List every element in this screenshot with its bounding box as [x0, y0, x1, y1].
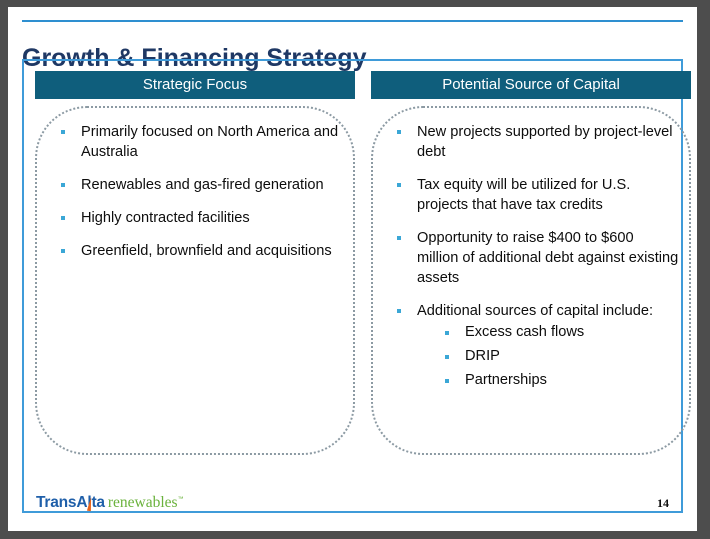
- brand-logo: TransAltarenewables™: [36, 494, 184, 512]
- column-body-potential-source-of-capital: New projects supported by project-level …: [371, 106, 691, 455]
- page-number: 14: [657, 496, 669, 511]
- sub-list-item: Excess cash flows: [417, 322, 679, 343]
- bullet-text: Primarily focused on North America and A…: [81, 124, 338, 160]
- column-strategic-focus: Strategic Focus Primarily focused on Nor…: [35, 71, 355, 455]
- sub-bullet-list: Excess cash flows DRIP Partnerships: [417, 322, 679, 391]
- column-potential-source-of-capital: Potential Source of Capital New projects…: [371, 71, 691, 455]
- sub-bullet-text: Partnerships: [465, 372, 547, 388]
- list-item: Highly contracted facilities: [47, 208, 343, 228]
- list-item: Renewables and gas-fired generation: [47, 175, 343, 195]
- logo-trademark-symbol: ™: [178, 497, 184, 503]
- bullet-list-strategic-focus: Primarily focused on North America and A…: [47, 122, 343, 261]
- slide-viewer: Growth & Financing Strategy Strategic Fo…: [0, 0, 710, 539]
- list-item: New projects supported by project-level …: [383, 122, 679, 162]
- bullet-text: Additional sources of capital include:: [417, 303, 653, 319]
- column-header-strategic-focus: Strategic Focus: [35, 71, 355, 99]
- sub-bullet-text: DRIP: [465, 348, 500, 364]
- content-frame: Strategic Focus Primarily focused on Nor…: [22, 59, 683, 513]
- sub-bullet-text: Excess cash flows: [465, 324, 584, 340]
- list-item: Greenfield, brownfield and acquisitions: [47, 241, 343, 261]
- sub-list-item: DRIP: [417, 346, 679, 367]
- bullet-text: New projects supported by project-level …: [417, 124, 673, 160]
- bullet-list-potential-source-of-capital: New projects supported by project-level …: [383, 122, 679, 391]
- bullet-text: Renewables and gas-fired generation: [81, 177, 324, 193]
- bullet-text: Highly contracted facilities: [81, 210, 250, 226]
- column-body-strategic-focus: Primarily focused on North America and A…: [35, 106, 355, 455]
- bullet-text: Opportunity to raise $400 to $600 millio…: [417, 230, 678, 286]
- logo-renewables-text: renewables: [108, 494, 178, 511]
- column-header-potential-source-of-capital: Potential Source of Capital: [371, 71, 691, 99]
- slide-page: Growth & Financing Strategy Strategic Fo…: [8, 7, 697, 531]
- bullet-text: Greenfield, brownfield and acquisitions: [81, 243, 332, 259]
- bullet-text: Tax equity will be utilized for U.S. pro…: [417, 177, 630, 213]
- title-divider-rule: [22, 20, 683, 22]
- list-item: Tax equity will be utilized for U.S. pro…: [383, 175, 679, 215]
- list-item: Primarily focused on North America and A…: [47, 122, 343, 162]
- sub-list-item: Partnerships: [417, 370, 679, 391]
- list-item: Opportunity to raise $400 to $600 millio…: [383, 228, 679, 288]
- logo-transalta-text: TransAlta: [36, 494, 105, 511]
- list-item: Additional sources of capital include: E…: [383, 301, 679, 391]
